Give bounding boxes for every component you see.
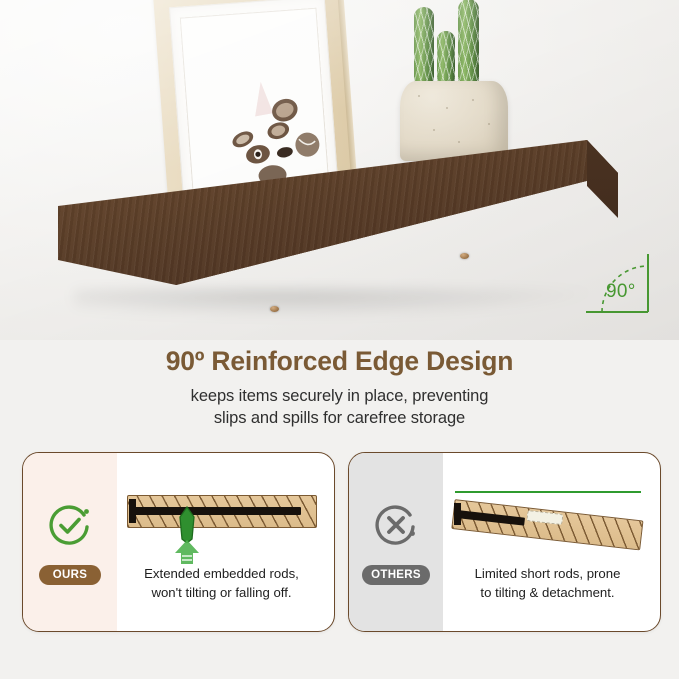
page-title: 90º Reinforced Edge Design [0,346,679,377]
tilted-shelf-cross-section [451,499,643,550]
hero-product-photo: 90° [0,0,679,340]
x-circle-icon [372,501,420,549]
others-caption: Limited short rods, prone to tilting & d… [445,565,650,602]
pot-speckle [418,95,420,97]
ours-caption-line-2: won't tilting or falling off. [151,585,291,600]
rod-end-cap [129,499,136,523]
subtitle-line-2: slips and spills for carefree storage [214,409,465,427]
others-diagram [443,453,660,565]
comparison-panel-others: OTHERS Limited short rods, prone to tilt… [348,452,661,632]
pot-speckle [488,123,490,125]
pot-speckle [472,99,474,101]
floating-shelf [58,140,618,335]
pot-speckle [446,107,448,109]
ours-diagram [117,453,334,565]
cactus-planter [392,0,516,161]
ours-badge: OURS [39,565,101,585]
subtitle-line-1: keeps items securely in place, preventin… [191,387,489,405]
page-subtitle: keeps items securely in place, preventin… [0,386,679,430]
others-caption-line-2: to tilting & detachment. [480,585,614,600]
ours-caption-line-1: Extended embedded rods, [144,566,299,581]
support-arrow-icon [173,539,201,565]
angle-label: 90° [606,281,636,303]
rod-end-cap [454,503,461,525]
level-reference-line [455,491,641,493]
pot-speckle [433,129,435,131]
rod-anchor-icon [175,505,199,543]
embedded-rod [131,507,301,515]
comparison-panel-ours: OURS Extended embedded rods, won't tilti… [22,452,335,632]
ours-caption: Extended embedded rods, won't tilting or… [119,565,324,602]
shelf-screw [460,253,469,259]
check-circle-icon [46,501,94,549]
headline-block: 90º Reinforced Edge Design keeps items s… [0,340,679,444]
comparison-section: OURS Extended embedded rods, won't tilti… [0,452,679,647]
shelf-screw [270,306,279,312]
angle-indicator: 90° [582,250,654,322]
others-badge: OTHERS [362,565,430,585]
shelf-shadow [74,290,604,318]
others-caption-line-1: Limited short rods, prone [475,566,621,581]
